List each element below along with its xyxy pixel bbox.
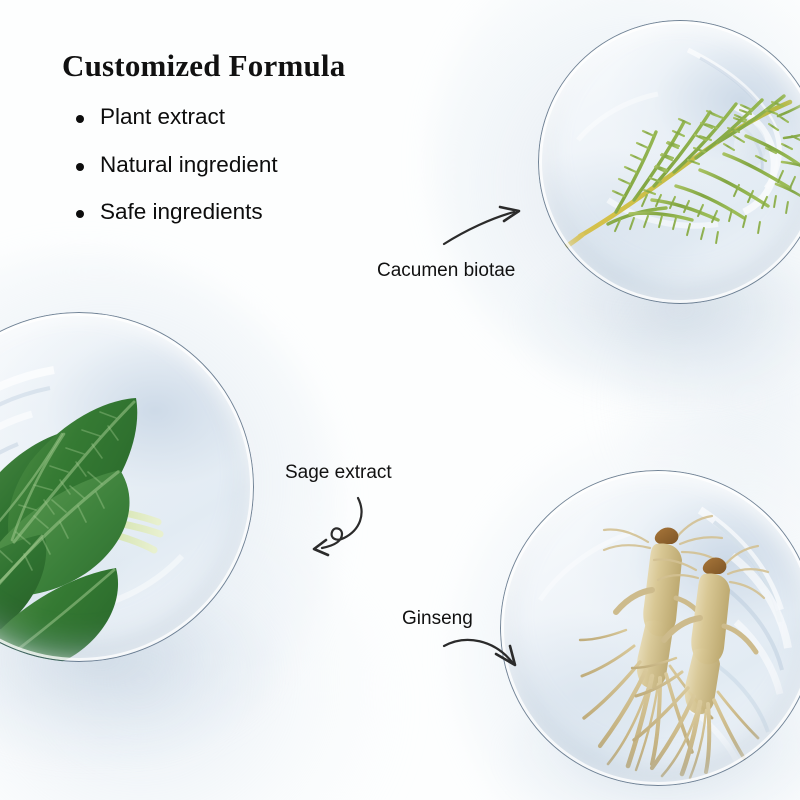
petri-dish-cacumen-biotae	[538, 20, 800, 304]
feature-label: Safe ingredients	[100, 199, 263, 224]
bullet-dot-icon	[76, 163, 84, 171]
feature-label: Plant extract	[100, 104, 225, 129]
product-ingredient-banner: Customized Formula Plant extract Natural…	[0, 0, 800, 800]
feature-list-item: Safe ingredients	[76, 201, 442, 224]
page-title: Customized Formula	[62, 48, 442, 84]
feature-list: Plant extract Natural ingredient Safe in…	[62, 106, 442, 224]
petri-dish-ginseng	[500, 470, 800, 786]
feature-list-item: Natural ingredient	[76, 154, 442, 177]
cedar-sprig-specimen	[538, 20, 800, 304]
curved-arrow-left-loop-icon	[296, 492, 376, 562]
curved-arrow-up-right-icon	[440, 200, 530, 260]
headline-block: Customized Formula Plant extract Natural…	[62, 48, 442, 249]
ingredient-label-ginseng: Ginseng	[402, 608, 473, 630]
ingredient-label-sage-extract: Sage extract	[285, 462, 392, 484]
ginseng-roots-specimen	[500, 470, 800, 786]
feature-list-item: Plant extract	[76, 106, 442, 129]
ingredient-label-cacumen-biotae: Cacumen biotae	[377, 260, 515, 282]
feature-label: Natural ingredient	[100, 152, 278, 177]
bullet-dot-icon	[76, 210, 84, 218]
petri-dish-sage	[0, 312, 254, 662]
sage-leaves-specimen	[0, 312, 254, 662]
bullet-dot-icon	[76, 115, 84, 123]
